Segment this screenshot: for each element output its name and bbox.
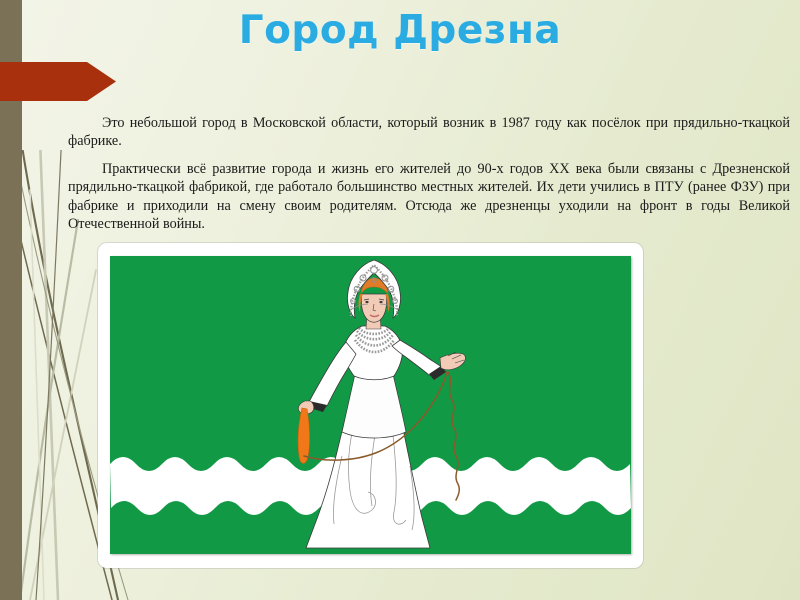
page-title: Город Дрезна (0, 8, 800, 53)
presentation-slide: Город Дрезна Это небольшой город в Моско… (0, 0, 800, 600)
arrow-banner-decoration (0, 62, 116, 101)
flag-image-frame: Флаг города Дрезна (98, 243, 643, 568)
paragraph-1: Это небольшой город в Московской области… (68, 114, 790, 151)
dreznya-flag-illustration (110, 256, 631, 554)
flag-image (110, 256, 631, 554)
paragraph-2: Практически всё развитие города и жизнь … (68, 160, 790, 234)
body-text-block: Это небольшой город в Московской области… (68, 114, 790, 243)
